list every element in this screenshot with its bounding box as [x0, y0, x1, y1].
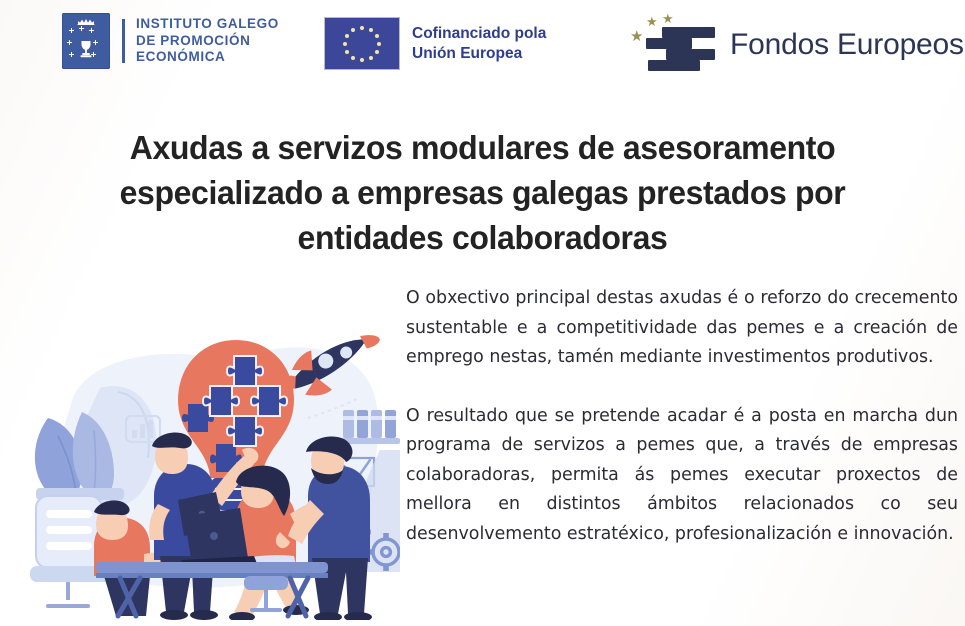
body-copy: O obxectivo principal destas axudas é o … [406, 284, 958, 549]
igape-logo-text: INSTITUTO GALEGO DE PROMOCIÓN ECONÓMICA [136, 16, 279, 66]
igape-logo: INSTITUTO GALEGO DE PROMOCIÓN ECONÓMICA [62, 13, 279, 69]
teamwork-brainstorming-illustration [8, 300, 400, 620]
cross-icon [93, 40, 98, 45]
fondos-europeos-mark-icon: ★ ★ ★ [624, 10, 722, 80]
crown-icon [77, 18, 95, 25]
logo-bar: INSTITUTO GALEGO DE PROMOCIÓN ECONÓMICA [0, 0, 965, 92]
cross-icon [69, 52, 74, 57]
illustration-svg [8, 300, 400, 620]
cross-icon [89, 28, 94, 33]
paragraph-objective: O obxectivo principal destas axudas é o … [406, 284, 958, 373]
fondos-europeos-text: Fondos Europeos [730, 28, 964, 62]
paragraph-result: O resultado que se pretende acadar é a p… [406, 402, 958, 550]
logo-divider [122, 19, 125, 63]
european-union-logo: Cofinanciado pola Unión Europea [325, 18, 546, 69]
poster-page: INSTITUTO GALEGO DE PROMOCIÓN ECONÓMICA [0, 0, 965, 626]
cross-icon [91, 52, 96, 57]
galicia-coat-of-arms-icon [62, 13, 110, 69]
title-line: entidades colaboradoras [58, 216, 907, 261]
eu-logo-text: Cofinanciado pola Unión Europea [399, 24, 546, 64]
title-line: Axudas a servizos modulares de asesorame… [58, 126, 907, 171]
eu-flag-icon [325, 18, 399, 69]
title-line: especializado a empresas galegas prestad… [58, 171, 907, 216]
cross-icon [79, 26, 84, 31]
cross-icon [67, 40, 72, 45]
cross-icon [69, 28, 74, 33]
page-title: Axudas a servizos modulares de asesorame… [58, 126, 907, 261]
fondos-europeos-logo: ★ ★ ★ Fondos Europeos [624, 10, 964, 80]
desk [96, 562, 328, 616]
